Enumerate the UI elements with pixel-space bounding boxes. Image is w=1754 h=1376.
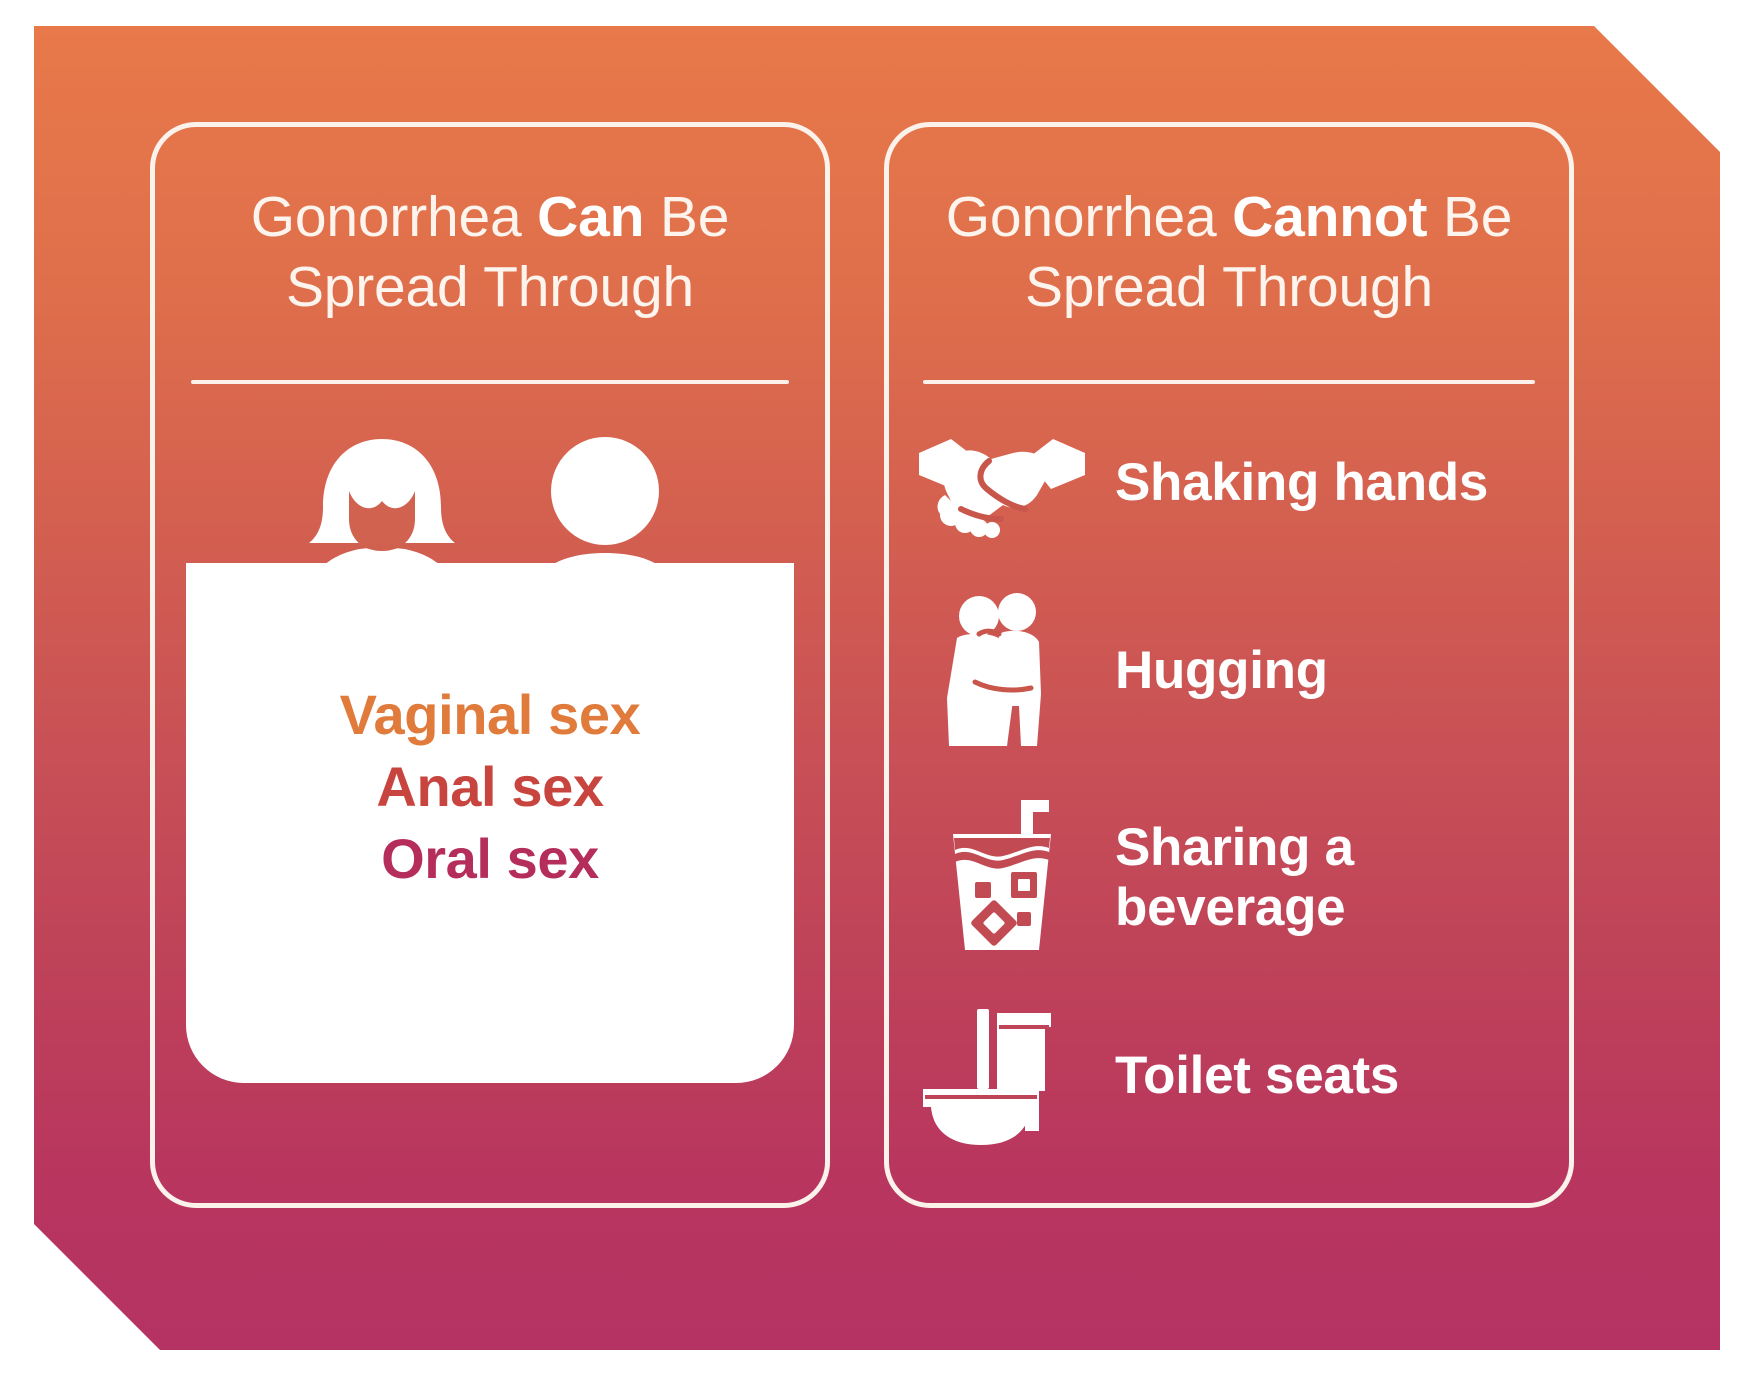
transmission-list: Vaginal sex Anal sex Oral sex — [186, 679, 794, 896]
right-title-emphasis: Cannot — [1232, 185, 1427, 249]
handshake-icon — [907, 423, 1097, 543]
left-divider — [191, 380, 789, 384]
toilet-icon — [907, 1005, 1097, 1145]
list-item: Toilet seats — [889, 1005, 1569, 1145]
right-panel-title: Gonorrhea Cannot Be Spread Through — [889, 183, 1569, 322]
list-item-label: Hugging — [1115, 641, 1328, 700]
right-divider — [923, 380, 1535, 384]
beverage-cup-icon — [907, 798, 1097, 958]
hugging-icon — [907, 590, 1097, 750]
list-item: Shaking hands — [889, 423, 1569, 543]
cannot-spread-list: Shaking hands — [889, 399, 1569, 1169]
left-panel-title: Gonorrhea Can Be Spread Through — [155, 183, 825, 322]
list-item-label: Sharing a beverage — [1115, 818, 1569, 937]
list-item-label: Toilet seats — [1115, 1046, 1399, 1105]
infographic-poster: Gonorrhea Can Be Spread Through — [0, 0, 1754, 1376]
list-item-label: Shaking hands — [1115, 453, 1488, 512]
right-title-prefix: Gonorrhea — [946, 185, 1232, 249]
left-title-prefix: Gonorrhea — [251, 185, 537, 249]
left-title-emphasis: Can — [537, 185, 644, 249]
list-item: Vaginal sex — [186, 679, 794, 751]
list-item: Anal sex — [186, 751, 794, 823]
list-item: Hugging — [889, 590, 1569, 750]
panel-can-be-spread: Gonorrhea Can Be Spread Through — [150, 122, 830, 1208]
list-item: Oral sex — [186, 823, 794, 895]
list-item: Sharing a beverage — [889, 798, 1569, 958]
panel-cannot-be-spread: Gonorrhea Cannot Be Spread Through — [884, 122, 1574, 1208]
transmission-list-card: Vaginal sex Anal sex Oral sex — [186, 563, 794, 1083]
